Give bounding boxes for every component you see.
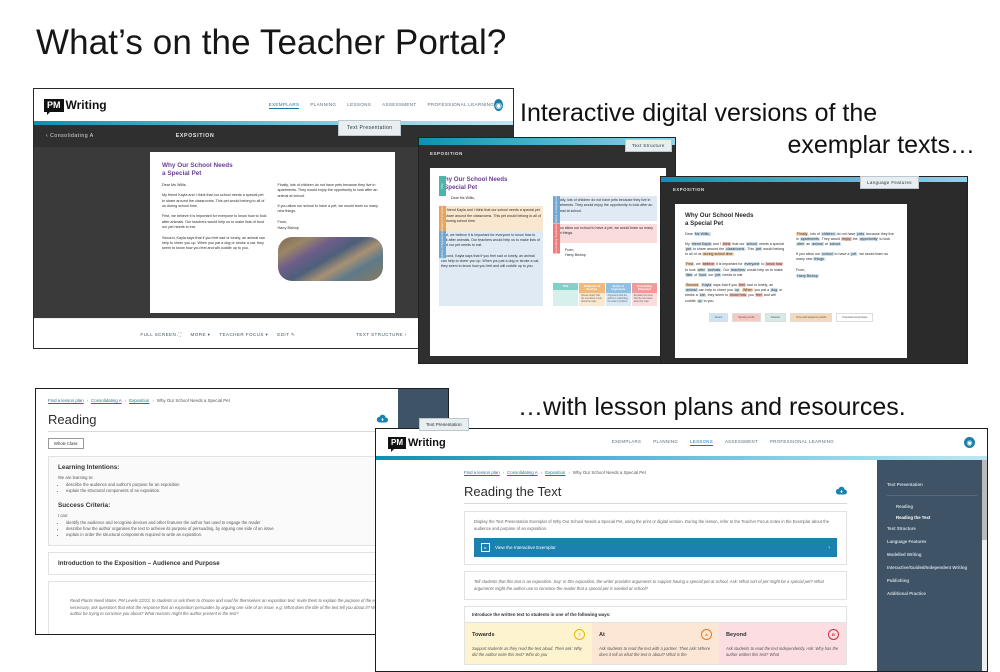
level-towards: Towards T Support students as they read …: [465, 623, 592, 664]
success-criteria-item: explain in order the structural componen…: [66, 532, 378, 538]
nav-item-professional-learning[interactable]: PROFESSIONAL LEARNING: [770, 439, 834, 446]
cloud-download-icon[interactable]: [377, 410, 388, 428]
cloud-download-icon[interactable]: [836, 482, 847, 500]
exemplar-page: Why Our School Needs a Special Pet Dear …: [675, 204, 907, 358]
logo-word: Writing: [408, 437, 446, 449]
page-title: What’s on the Teacher Portal?: [36, 23, 507, 63]
tab-chip-language-features[interactable]: Language Features: [860, 176, 919, 189]
learning-intentions-card: Learning Intentions: We are learning to:…: [48, 456, 388, 546]
lesson-body: Find a lesson plan›Consolidating A›Expos…: [376, 460, 877, 672]
exemplar-para-1: My friend Kayla and I think that our sch…: [685, 242, 786, 258]
toolbar-edit[interactable]: EDIT ✎: [277, 332, 295, 338]
lf-button-prepositional-phrases[interactable]: Prepositional phrases: [836, 313, 873, 322]
lf-button-time-and-sequence-words[interactable]: Time and sequence words: [790, 313, 832, 322]
section-label: EXPOSITION: [430, 151, 463, 156]
breadcrumb-find-a-lesson-plan[interactable]: Find a lesson plan: [48, 398, 84, 403]
exemplar-page: Why Our School Needs a Special Pet Dear …: [150, 152, 395, 313]
success-criteria-heading: Success Criteria:: [58, 502, 378, 509]
learning-intentions-heading: Learning Intentions:: [58, 464, 378, 471]
exemplar-page: Title Why Our School Needs a Special Pet…: [430, 168, 666, 356]
app-header: PMWriting EXEMPLARS PLANNING LESSONS ASS…: [34, 89, 513, 121]
exemplar-para-4: Finally, lots of children do not have pe…: [796, 232, 897, 248]
exemplar-salutation: Dear Ms Willis,: [685, 232, 786, 237]
body2-card: Tell students that this text is an expos…: [464, 571, 847, 600]
classroom-photo: [278, 237, 384, 281]
breadcrumb-exposition[interactable]: Exposition: [545, 470, 565, 475]
lesson-sidebar: Text Presentation Reading Reading the Te…: [877, 460, 987, 672]
level-beyond: Beyond B Ask students to read the text i…: [719, 623, 846, 664]
exemplar-para-5: If you allow our school to have a pet, w…: [553, 224, 657, 238]
avatar[interactable]: ◉: [494, 99, 503, 111]
section-heading: Introduction to the Exposition – Audienc…: [58, 560, 378, 567]
tab-chip-text-structure[interactable]: Text Structure: [625, 139, 672, 152]
level-text: Ask students to read the text with a par…: [599, 646, 710, 657]
exemplar-para-4: Finally, lots of children do not have pe…: [278, 183, 384, 199]
play-box-icon: ▸: [481, 543, 490, 552]
breadcrumb: Find a lesson plan›Consolidating A›Expos…: [48, 398, 388, 403]
nav-item-exemplars[interactable]: EXEMPLARS: [269, 102, 300, 109]
nav-item-planning[interactable]: PLANNING: [653, 439, 678, 446]
sidebar-item-text-structure[interactable]: Text Structure: [887, 526, 977, 531]
legend-series-of-arguments[interactable]: Series of Arguments Arguments that the a…: [606, 283, 631, 306]
exemplar-para-2: First, we believe it is important for ev…: [685, 262, 786, 278]
exemplar-salutation: Dear Ms Willis,: [162, 183, 268, 188]
exemplar-para-3: Second, Kayla says that if you feel sad …: [685, 283, 786, 304]
scrollbar-thumb[interactable]: [982, 460, 987, 540]
legend-statement-of-position[interactable]: Statement of Position Shows clearly that…: [579, 283, 604, 306]
stripe-concluding-statement: Concluding Statement: [553, 224, 560, 254]
caption-bottom: …with lesson plans and resources.: [518, 391, 978, 423]
breadcrumb-consolidating-a[interactable]: Consolidating A: [507, 470, 538, 475]
scrollbar[interactable]: [982, 460, 987, 671]
tab-chip-text-presentation-2[interactable]: Text Presentation: [419, 418, 469, 431]
exemplar-signoff-2: Harry Bishop: [278, 226, 384, 231]
screenshot-text-structure: EXPOSITION Title Why Our School Needs a …: [418, 137, 676, 364]
back-breadcrumb[interactable]: ‹ Consolidating A: [46, 133, 94, 139]
exemplar-signoff-2: Harry Bishop: [565, 253, 657, 258]
stripe-title: Title: [439, 176, 446, 196]
stripe-series-of-arguments-2: Series of Arguments: [553, 196, 560, 223]
exemplar-signoff-2: Harry Bishop: [796, 274, 897, 279]
main-nav: EXEMPLARS PLANNING LESSONS ASSESSMENT PR…: [269, 102, 495, 109]
breadcrumb-find-a-lesson-plan[interactable]: Find a lesson plan: [464, 470, 500, 475]
main-nav: EXEMPLARS PLANNING LESSONS ASSESSMENT PR…: [612, 439, 834, 446]
exemplar-para-5: If you allow our school to have a pet, w…: [278, 204, 384, 215]
toolbar-full-screen[interactable]: FULL SCREEN ⛶: [140, 332, 181, 337]
lf-button-nouns[interactable]: Nouns: [709, 313, 729, 322]
sidebar-item-publishing[interactable]: Publishing: [887, 578, 977, 583]
sidebar-item-reading-the-text[interactable]: Reading the Text: [896, 515, 977, 520]
logo: PMWriting: [388, 437, 446, 449]
intro-card: Display the Text Presentation Exemplar o…: [464, 511, 847, 565]
logo-mark: PM: [44, 99, 64, 112]
context-bar: EXPOSITION: [661, 182, 967, 197]
exemplar-title-line1: Why Our School Needs: [439, 176, 507, 183]
exemplar-title-line2: a Special Pet: [162, 170, 201, 177]
legend-title[interactable]: Title: [553, 283, 578, 306]
lesson-title-row: Reading: [48, 410, 388, 432]
nav-item-professional-learning[interactable]: PROFESSIONAL LEARNING: [428, 102, 495, 109]
exemplar-para-4: Finally, lots of children do not have pe…: [553, 196, 657, 216]
chevron-right-icon: ›: [828, 545, 830, 551]
exemplar-para-1: My friend Kayla and I think that our sch…: [162, 193, 268, 209]
exemplar-signoff-1: From,: [278, 220, 384, 225]
view-interactive-exemplar-button[interactable]: ▸ View the Interactive Exemplar ›: [474, 538, 837, 557]
sidebar-item-modelled-writing[interactable]: Modelled Writing: [887, 552, 977, 557]
nav-item-assessment[interactable]: ASSESSMENT: [382, 102, 416, 109]
lesson-body: Find a lesson plan›Consolidating A›Expos…: [36, 389, 400, 635]
cta-label: View the Interactive Exemplar: [495, 545, 556, 550]
learning-intention-item: explain the structural components of an …: [66, 488, 378, 494]
exemplar-para-3: Second, Kayla says that if you feel sad …: [441, 254, 541, 270]
intro-text: Display the Text Presentation Exemplar o…: [474, 519, 837, 532]
success-criteria-lead: I can:: [58, 513, 378, 518]
language-feature-buttons: Nouns Sensing verbs Adverbs Time and seq…: [685, 313, 897, 322]
breadcrumb-current: Why Our School Needs a Special Pet: [573, 470, 646, 475]
level-text: Support students as they read the text a…: [472, 646, 582, 657]
body2-text: Tell students that this text is an expos…: [474, 579, 837, 592]
level-at: At A Ask students to read the text with …: [592, 623, 719, 664]
exemplar-salutation: Dear Ms Willis,: [451, 196, 543, 201]
avatar[interactable]: ◉: [964, 437, 975, 448]
tab-chip-text-presentation[interactable]: Text Presentation: [338, 120, 401, 136]
badge-beyond: B: [828, 629, 839, 640]
toolbar-text-structure[interactable]: TEXT STRUCTURE ›: [356, 332, 406, 337]
nav-item-exemplars[interactable]: EXEMPLARS: [612, 439, 642, 446]
sidebar-item-reading[interactable]: Reading: [896, 504, 977, 509]
exemplar-para-2: First, we believe it is important for ev…: [162, 214, 268, 230]
exemplar-title-line1: Why Our School Needs: [685, 212, 753, 219]
level-name: At: [599, 632, 605, 638]
logo: PMWriting: [44, 98, 107, 112]
logo-word: Writing: [66, 98, 107, 112]
screenshot-lesson-reading-the-text: PMWriting EXEMPLARS PLANNING LESSONS ASS…: [375, 428, 988, 672]
badge-at: A: [701, 629, 712, 640]
learning-intentions-lead: We are learning to:: [58, 475, 378, 480]
level-name: Beyond: [726, 632, 747, 638]
sidebar-item-additional-practice[interactable]: Additional Practice: [887, 591, 977, 596]
toolbar-more[interactable]: MORE ▾: [191, 332, 211, 338]
section-body-card: Read Plants Need Water, PM Levels 22/23,…: [48, 581, 388, 635]
exemplar-signoff-1: From,: [796, 268, 897, 273]
legend-concluding-statement[interactable]: Concluding Statement Restates the issue …: [632, 283, 657, 306]
sidebar-item-interactive-guided-independent-writing[interactable]: Interactive/Guided/Independent Writing: [887, 565, 977, 570]
app-header: PMWriting EXEMPLARS PLANNING LESSONS ASS…: [376, 429, 987, 456]
structure-legend: Title Statement of Position Shows clearl…: [553, 283, 657, 306]
exemplar-para-5: If you allow our school to have a pet, w…: [796, 252, 897, 262]
breadcrumb-exposition[interactable]: Exposition: [129, 398, 149, 403]
screenshot-language-features: EXPOSITION Why Our School Needs a Specia…: [660, 176, 968, 364]
lesson-title: Reading: [48, 412, 96, 427]
caption-top-line1: Interactive digital versions of the: [520, 97, 975, 129]
section-label: EXPOSITION: [673, 187, 705, 192]
sidebar-item-text-presentation[interactable]: Text Presentation: [887, 482, 977, 487]
stripe-series-of-arguments: Series of Arguments: [439, 231, 446, 258]
exemplar-para-1: My friend Kayla and I think that our sch…: [439, 206, 543, 226]
logo-mark: PM: [388, 437, 406, 449]
nav-item-planning[interactable]: PLANNING: [310, 102, 336, 109]
nav-item-lessons[interactable]: LESSONS: [347, 102, 371, 109]
exemplar-para-2: First, we believe it is important for ev…: [441, 233, 541, 249]
audience-tag: Whole Class: [48, 438, 84, 449]
lesson-title: Reading the Text: [464, 484, 561, 499]
exemplar-title-line1: Why Our School Needs: [162, 162, 233, 169]
lf-button-adverbs[interactable]: Adverbs: [765, 313, 787, 322]
sidebar-item-language-features[interactable]: Language Features: [887, 539, 977, 544]
level-text: Ask students to read the text independen…: [726, 646, 838, 657]
badge-towards: T: [574, 629, 585, 640]
exemplar-title-line2: a Special Pet: [685, 220, 723, 227]
level-name: Towards: [472, 632, 495, 638]
lesson-title-row: Reading the Text: [464, 482, 847, 504]
nav-item-assessment[interactable]: ASSESSMENT: [725, 439, 758, 446]
divider: [887, 495, 977, 496]
toolbar-teacher-focus[interactable]: TEACHER FOCUS ▾: [219, 332, 268, 338]
section-heading-card: Introduction to the Exposition – Audienc…: [48, 552, 388, 575]
exemplar-para-3: Second, Kayla says that if you feel sad …: [162, 236, 268, 252]
slide-canvas: What’s on the Teacher Portal? Interactiv…: [0, 0, 1000, 672]
breadcrumb-current: Why Our School Needs a Special Pet: [157, 398, 230, 403]
differentiation-table: Towards T Support students as they read …: [464, 623, 847, 665]
section-body: Read Plants Need Water, PM Levels 22/23,…: [58, 589, 422, 627]
breadcrumb: Find a lesson plan›Consolidating A›Expos…: [464, 470, 847, 475]
section-label: EXPOSITION: [176, 133, 215, 139]
lf-button-sensing-verbs[interactable]: Sensing verbs: [732, 313, 760, 322]
nav-item-lessons[interactable]: LESSONS: [690, 439, 713, 446]
breadcrumb-consolidating-a[interactable]: Consolidating A: [91, 398, 122, 403]
introduce-text-line: Introduce the written text to students i…: [464, 606, 847, 623]
